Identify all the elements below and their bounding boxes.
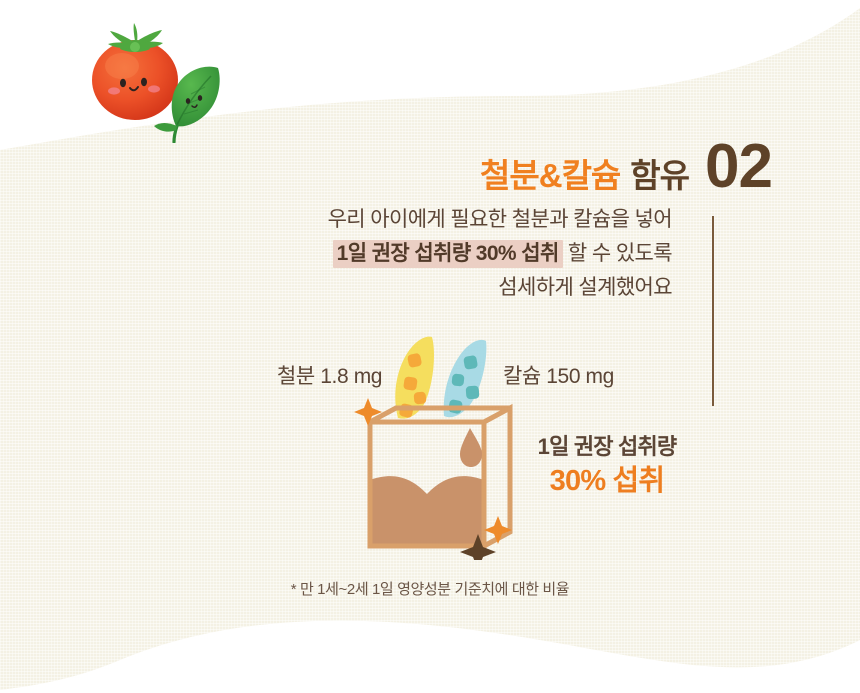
callout-top-label: 1일 권장 섭취량 bbox=[512, 432, 702, 462]
body-line-2: 1일 권장 섭취량 30% 섭취 할 수 있도록 bbox=[180, 237, 672, 271]
vertical-divider bbox=[712, 216, 714, 406]
body-copy: 우리 아이에게 필요한 철분과 칼슘을 넣어 1일 권장 섭취량 30% 섭취 … bbox=[180, 203, 672, 305]
headline-accent: 철분&칼슘 bbox=[480, 149, 620, 197]
body-line-2-tail: 할 수 있도록 bbox=[563, 242, 672, 265]
daily-intake-callout: 1일 권장 섭취량 30% 섭취 bbox=[512, 432, 702, 500]
body-line-3: 섬세하게 설계했어요 bbox=[180, 271, 672, 305]
headline-main: 함유 bbox=[630, 149, 689, 197]
section-number: 02 bbox=[705, 138, 772, 195]
body-highlight: 1일 권장 섭취량 30% 섭취 bbox=[333, 240, 563, 268]
headline: 철분&칼슘 함유 02 bbox=[400, 138, 772, 200]
juice-box-illustration bbox=[352, 330, 537, 560]
tomato-spinach-mascot-icon bbox=[78, 18, 228, 143]
footnote: * 만 1세~2세 1일 영양성분 기준치에 대한 비율 bbox=[0, 578, 860, 599]
droplet-icon bbox=[460, 428, 482, 467]
body-line-1: 우리 아이에게 필요한 철분과 칼슘을 넣어 bbox=[180, 203, 672, 237]
infographic-panel: 철분&칼슘 함유 02 우리 아이에게 필요한 철분과 칼슘을 넣어 1일 권장… bbox=[0, 0, 860, 693]
juice-liquid bbox=[370, 476, 484, 546]
callout-percentage: 30% 섭취 bbox=[512, 462, 702, 500]
